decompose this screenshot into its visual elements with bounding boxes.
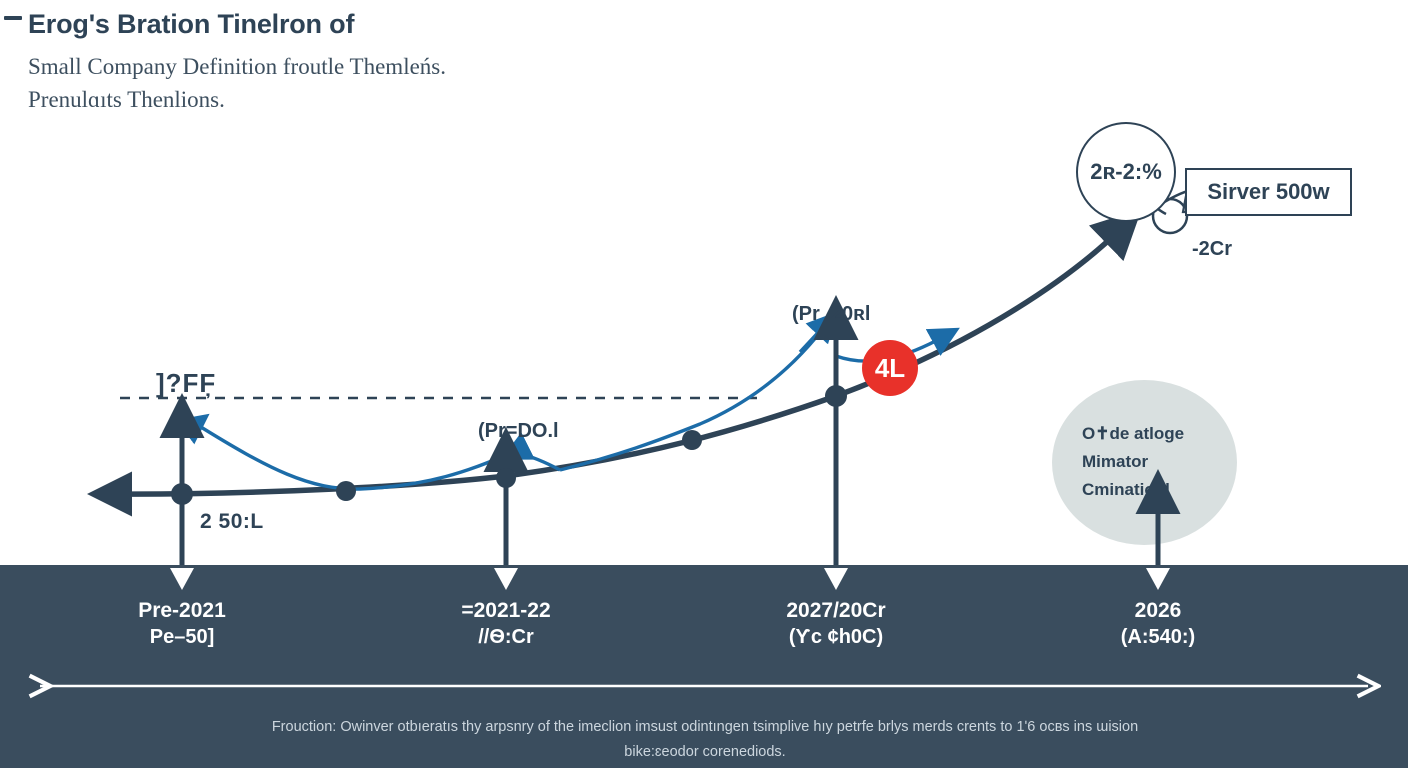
timeline-milestone-2: =2021-22//Ѳ:Cr [356,598,656,651]
milestone-value: (A:540:) [1008,624,1308,651]
outcome-line-2: Mimator [1082,448,1242,476]
timeline-milestone-1: Pre-2021Pe–50] [32,598,332,651]
blue-arrow-mid [508,452,516,456]
alert-badge: 4L [862,340,918,396]
data-point-1 [171,483,193,505]
callout-sub-label: -2Cr [1192,238,1232,261]
data-point-4 [682,430,702,450]
percent-badge: 2ʀ-2:% [1076,122,1176,222]
milestone-title: Pre-2021 [32,598,332,624]
outcome-line-1: O✝de atloge [1082,420,1242,448]
footer-caption: Frouction: Owinver otbıeratıs thy arpsnr… [120,715,1290,766]
data-point-2 [336,481,356,501]
outcome-line-3: Cminationl [1082,476,1242,504]
milestone-value: (Ƴc ¢h0C) [686,624,986,651]
outcome-circle-text: O✝de atloge Mimator Cminationl [1082,420,1242,504]
callout-box: Sirver 500w [1185,168,1352,216]
milestone-value: //Ѳ:Cr [356,624,656,651]
blue-arrow-up [800,324,826,352]
milestone-title: 2027/20Cr [686,598,986,624]
blue-connector-mid [518,453,560,470]
timeline-milestone-4: 2026(A:540:) [1008,598,1308,651]
footer-line-1: Frouction: Owinver otbıeratıs thy arpsnr… [120,715,1290,740]
timeline-milestone-3: 2027/20Cr(Ƴc ¢h0C) [686,598,986,651]
blue-arrow-left [196,421,200,424]
footer-line-2: bike:ɛeodor corenediods. [120,740,1290,765]
mid-label-2: (Pr .20ʀl [792,303,870,326]
left-value-label: 2 50:L [200,510,264,534]
threshold-label: ]?FF̦ [156,368,216,399]
milestone-title: =2021-22 [356,598,656,624]
data-point-3 [496,468,516,488]
milestone-value: Pe–50] [32,624,332,651]
milestone-title: 2026 [1008,598,1308,624]
infographic-canvas: Erog's Bration Tinelron of Small Company… [0,0,1408,768]
data-point-5 [825,385,847,407]
mid-label-1: (Pr=DO.l [478,420,559,443]
